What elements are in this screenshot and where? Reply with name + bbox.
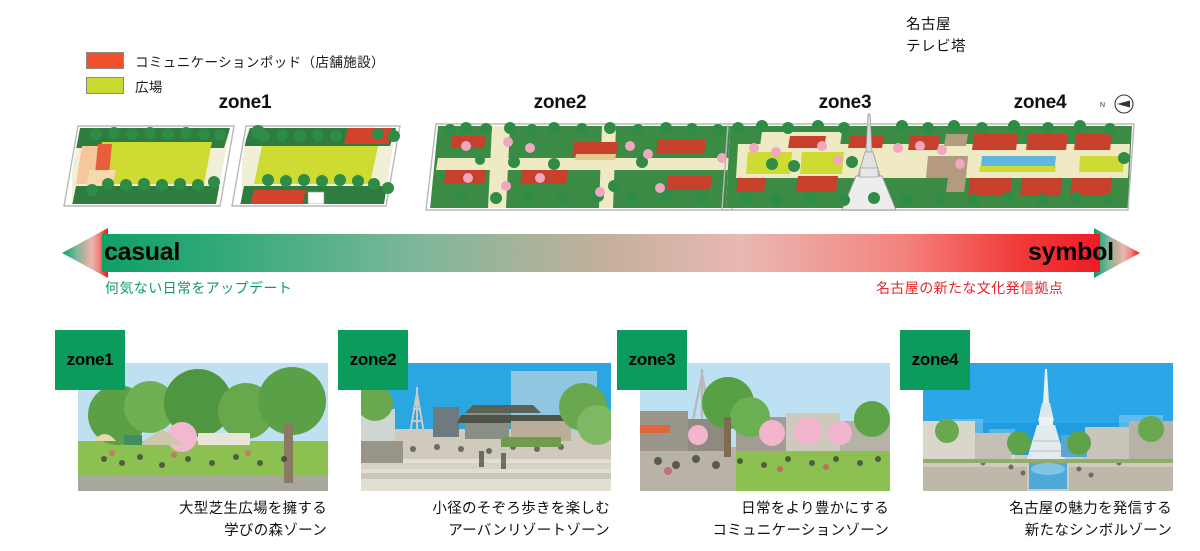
map-zone-label-1: zone1	[205, 92, 285, 114]
zone-badge-label: zone2	[350, 350, 397, 370]
zone-card-3[interactable]: zone3	[617, 330, 897, 550]
tower-annotation-line2: テレビ塔	[906, 36, 966, 58]
tower-annotation-line1: 名古屋	[906, 14, 966, 36]
axis-left-label: casual	[104, 238, 180, 267]
legend-swatch-plaza	[86, 77, 124, 94]
zone-card-4[interactable]: zone4	[900, 330, 1180, 550]
zone-caption-1: 大型芝生広場を擁する 学びの森ゾーン	[55, 498, 327, 543]
axis-right-sublabel: 名古屋の新たな文化発信拠点	[876, 278, 1063, 298]
zone-badge-4: zone4	[900, 330, 970, 390]
zone-badge-label: zone4	[912, 350, 959, 370]
zone-badge-3: zone3	[617, 330, 687, 390]
legend-item-label: コミュニケーションポッド（店舗施設）	[135, 51, 385, 71]
axis-right-label: symbol	[1028, 238, 1114, 267]
zone-caption-3: 日常をより豊かにする コミュニケーションゾーン	[617, 498, 889, 543]
zone-caption-line2: 新たなシンボルゾーン	[900, 520, 1172, 542]
map-zone-label-2: zone2	[520, 92, 600, 114]
zone-badge-1: zone1	[55, 330, 125, 390]
zone-caption-2: 小径のそぞろ歩きを楽しむ アーバンリゾートゾーン	[338, 498, 610, 543]
zone-caption-line1: 小径のそぞろ歩きを楽しむ	[338, 498, 610, 520]
zone-caption-line2: アーバンリゾートゾーン	[338, 520, 610, 542]
zone-caption-line2: 学びの森ゾーン	[55, 520, 327, 542]
zone-badge-2: zone2	[338, 330, 408, 390]
map-zone-label-3: zone3	[805, 92, 885, 114]
zone-caption-line1: 日常をより豊かにする	[617, 498, 889, 520]
zone-caption-4: 名古屋の魅力を発信する 新たなシンボルゾーン	[900, 498, 1172, 543]
zone-badge-label: zone3	[629, 350, 676, 370]
map-zone-label-4: zone4	[1000, 92, 1080, 114]
zone-caption-line2: コミュニケーションゾーン	[617, 520, 889, 542]
legend-item: コミュニケーションポッド（店舗施設）	[86, 50, 426, 71]
svg-text:N: N	[1100, 102, 1105, 109]
axis-left-sublabel: 何気ない日常をアップデート	[105, 278, 292, 298]
zone-card-2[interactable]: zone2	[338, 330, 618, 550]
zone-caption-line1: 名古屋の魅力を発信する	[900, 498, 1172, 520]
zone-card-1[interactable]: zone1 大型芝生広場を擁する 学びの森ゾ	[55, 330, 335, 550]
casual-symbol-axis-arrow	[62, 228, 1140, 278]
legend-swatch-pod	[86, 52, 124, 69]
zone-badge-label: zone1	[67, 350, 114, 370]
tower-annotation: 名古屋 テレビ塔	[906, 14, 966, 59]
legend-item-label: 広場	[135, 76, 163, 96]
zone-caption-line1: 大型芝生広場を擁する	[55, 498, 327, 520]
zone-master-plan-map	[62, 112, 1140, 218]
